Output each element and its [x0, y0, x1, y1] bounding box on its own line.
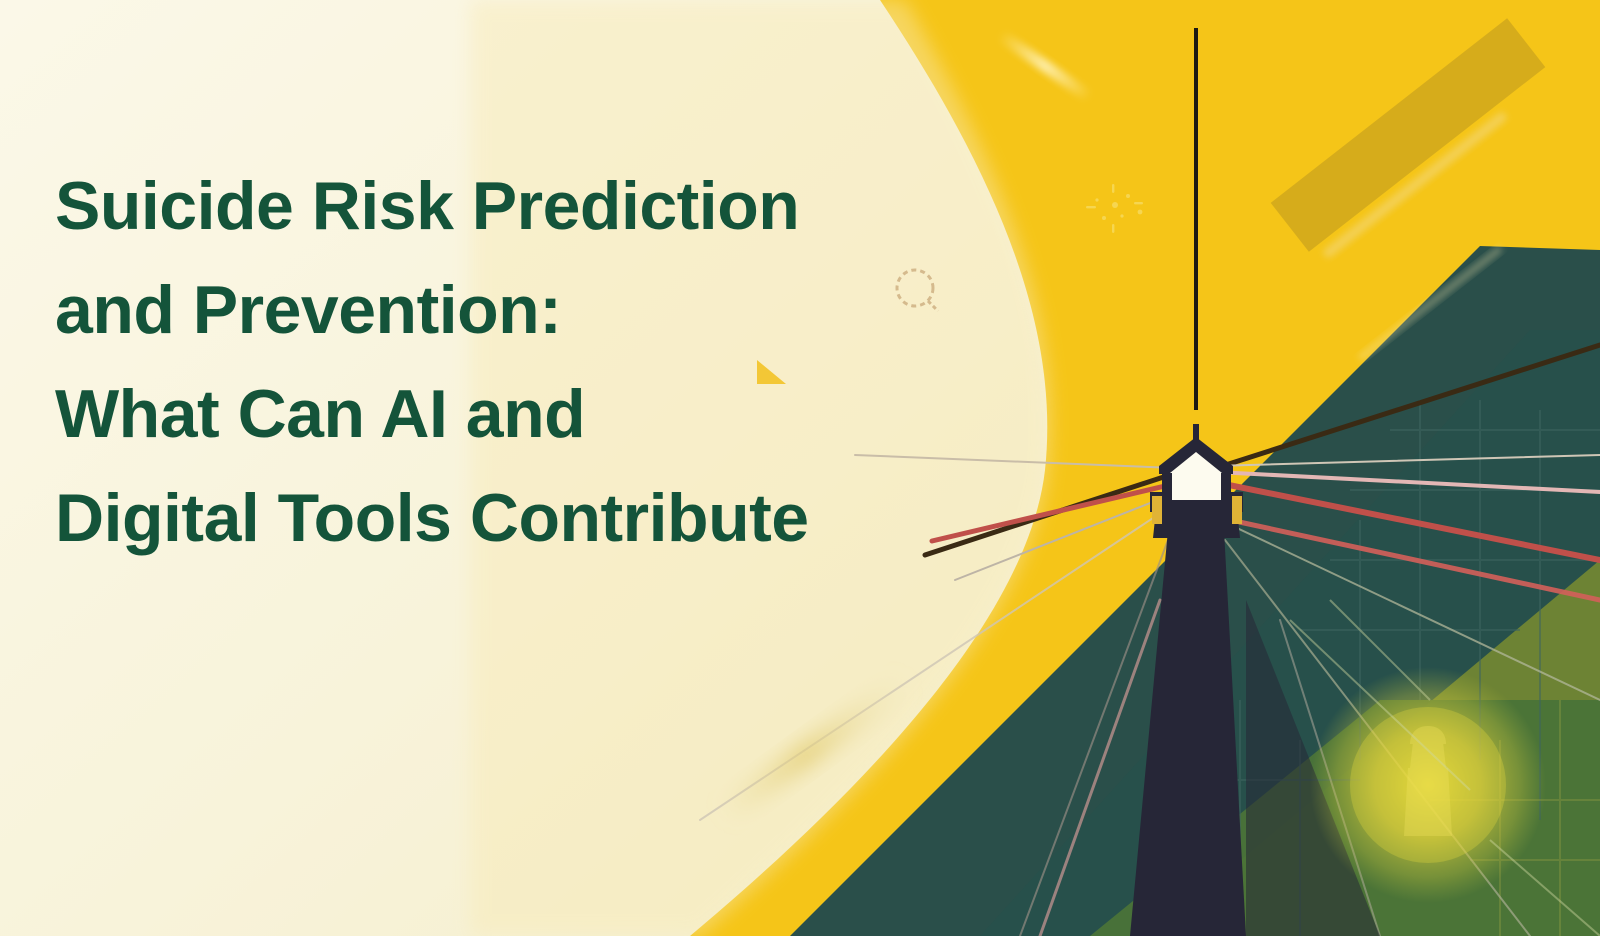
- title-line-3: What Can AI and: [55, 362, 955, 466]
- title-banner: Suicide Risk Prediction and Prevention: …: [0, 0, 1600, 936]
- title-line-1: Suicide Risk Prediction: [55, 154, 955, 258]
- title-line-2: and Prevention:: [55, 258, 955, 362]
- lighthouse-lamp-light: [1172, 473, 1221, 500]
- beacon-glow: [1310, 667, 1546, 903]
- page-title: Suicide Risk Prediction and Prevention: …: [55, 154, 955, 570]
- title-line-4: Digital Tools Contribute: [55, 466, 955, 570]
- lighthouse-finial: [1193, 424, 1199, 440]
- glow-lighthouse-icon: [1404, 726, 1452, 836]
